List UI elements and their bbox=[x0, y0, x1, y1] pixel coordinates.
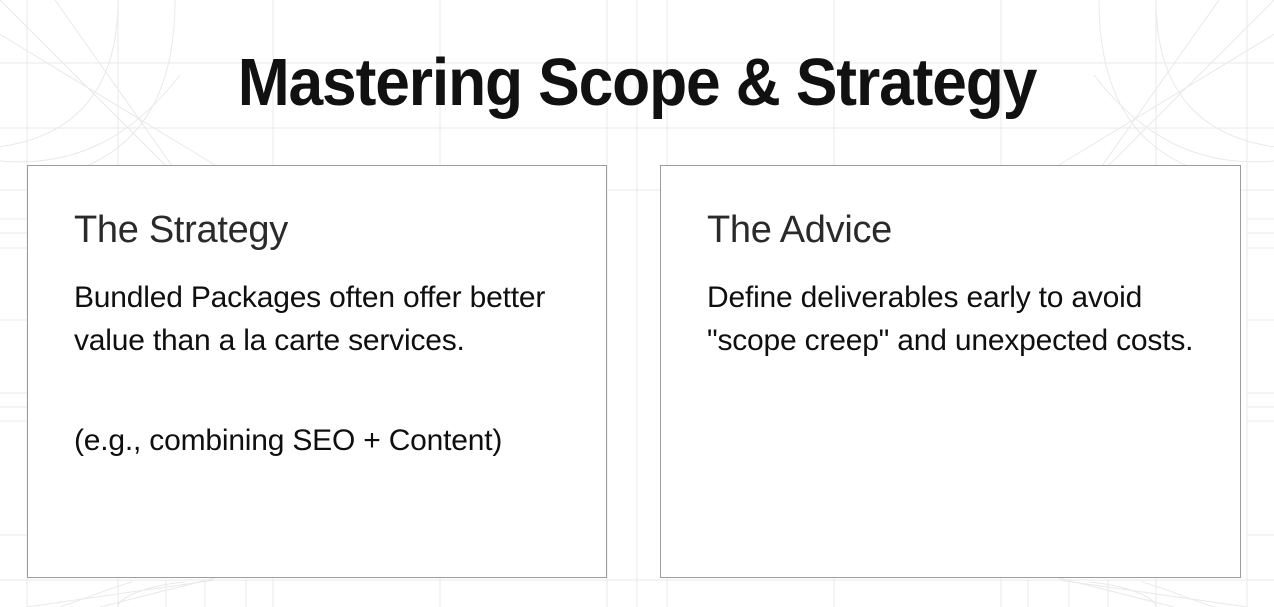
card-advice-heading: The Advice bbox=[707, 210, 1194, 251]
card-advice-content: The Advice Define deliverables early to … bbox=[661, 166, 1240, 362]
card-strategy-content: The Strategy Bundled Packages often offe… bbox=[28, 166, 606, 463]
card-strategy-heading: The Strategy bbox=[74, 210, 560, 251]
card-strategy: The Strategy Bundled Packages often offe… bbox=[27, 165, 607, 578]
card-strategy-body: Bundled Packages often offer better valu… bbox=[74, 277, 560, 362]
card-advice-body: Define deliverables early to avoid "scop… bbox=[707, 277, 1194, 362]
page-title: Mastering Scope & Strategy bbox=[45, 48, 1230, 118]
slide-canvas: Mastering Scope & Strategy The Strategy … bbox=[0, 0, 1274, 607]
card-advice: The Advice Define deliverables early to … bbox=[660, 165, 1241, 578]
card-strategy-note: (e.g., combining SEO + Content) bbox=[74, 420, 560, 463]
